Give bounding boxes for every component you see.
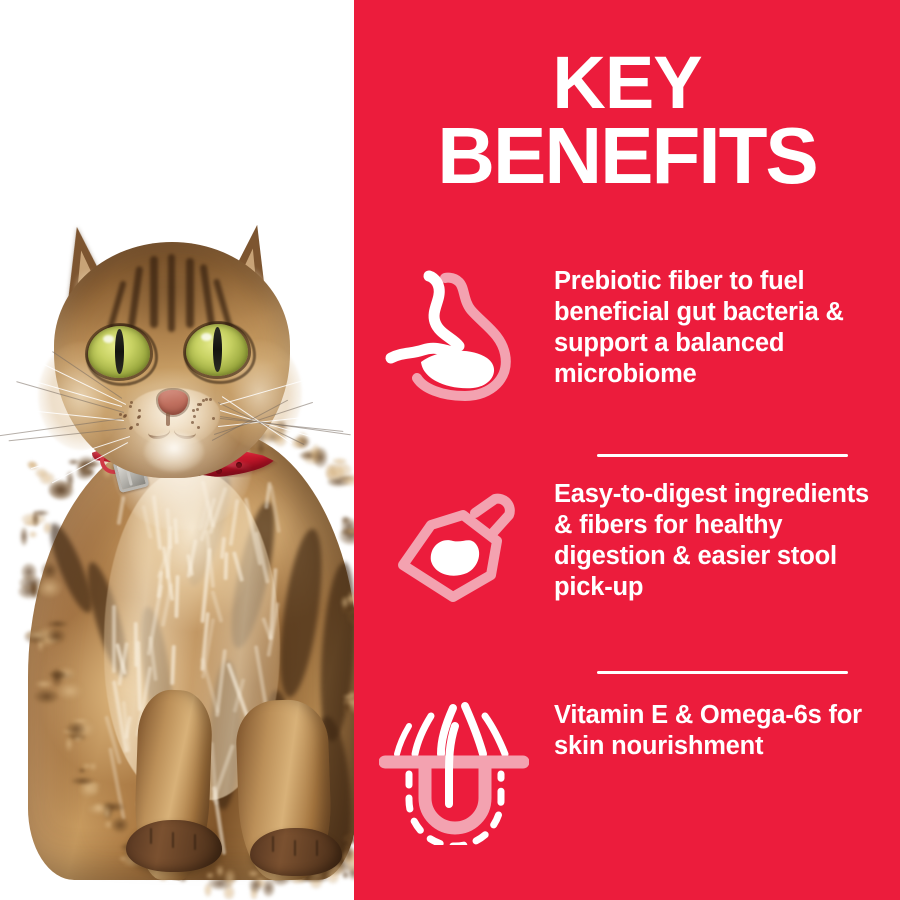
pooper-scooper-icon [354, 479, 554, 619]
cat-figure [0, 0, 354, 900]
benefit-item-prebiotic-fiber: Prebiotic fiber to fuel beneficial gut b… [354, 262, 900, 454]
fur-tuft [249, 878, 261, 893]
toe-line [294, 840, 296, 856]
toe-line [172, 832, 174, 848]
benefit-text: Easy-to-digest ingredients & fibers for … [554, 479, 900, 602]
eye-glint [103, 335, 114, 343]
cat-photo-pane [0, 0, 354, 900]
pupil [213, 327, 222, 372]
whisker-dot [193, 415, 196, 418]
benefit-text: Prebiotic fiber to fuel beneficial gut b… [554, 266, 900, 389]
fur-tuft [47, 620, 68, 628]
cat-photograph [0, 0, 354, 900]
fur-streak [112, 605, 116, 673]
page-title: KEY BENEFITS [354, 48, 900, 194]
whisker-dot [129, 405, 132, 408]
fur-tuft [111, 817, 129, 833]
forehead-stripe [168, 254, 175, 332]
whisker-dot [191, 421, 194, 424]
fur-tuft [73, 736, 83, 741]
forehead-stripe [150, 256, 158, 328]
whisker-dot [138, 415, 141, 418]
eye-glint [201, 333, 212, 341]
benefit-text: Vitamin E & Omega-6s for skin nourishmen… [554, 700, 900, 762]
fur-tuft [37, 578, 62, 598]
key-benefits-panel: KEY BENEFITS Prebiotic fiber [354, 0, 900, 900]
whisker-dot [199, 403, 202, 406]
toe-line [272, 836, 274, 852]
fur-tuft [20, 527, 28, 545]
cat-head [40, 222, 304, 488]
whisker-dot [130, 401, 133, 404]
benefits-list: Prebiotic fiber to fuel beneficial gut b… [354, 262, 900, 850]
cat-paw-right [250, 828, 342, 876]
product-feature-card: KEY BENEFITS Prebiotic fiber [0, 0, 900, 900]
hair-follicle-icon [354, 700, 554, 845]
benefit-item-easy-digest: Easy-to-digest ingredients & fibers for … [354, 457, 900, 671]
fur-tuft [41, 562, 58, 579]
cat-paw-left [126, 820, 222, 872]
whisker-dot [123, 415, 126, 418]
fur-tuft [32, 511, 39, 528]
fur-tuft [51, 668, 63, 687]
fur-tuft [103, 808, 111, 819]
fur-streak [133, 622, 137, 667]
title-line-2: BENEFITS [354, 118, 900, 194]
cat-eye-left [88, 326, 150, 378]
title-line-1: KEY [354, 48, 900, 118]
fur-tuft [346, 529, 354, 534]
cat-chin [144, 432, 204, 472]
fur-tuft [46, 628, 66, 644]
stomach-icon [354, 266, 554, 406]
toe-line [316, 840, 318, 856]
toe-line [194, 834, 196, 850]
fur-tuft [224, 869, 236, 887]
fur-tuft [35, 680, 53, 688]
toe-line [150, 828, 152, 844]
forehead-stripe [186, 258, 194, 328]
cat-eye-right [186, 324, 248, 376]
fur-tuft [29, 531, 37, 538]
fur-tuft [313, 447, 328, 468]
fur-tuft [343, 844, 354, 862]
fur-tuft [341, 474, 354, 485]
benefit-item-skin-nourishment: Vitamin E & Omega-6s for skin nourishmen… [354, 674, 900, 850]
pupil [115, 329, 124, 374]
